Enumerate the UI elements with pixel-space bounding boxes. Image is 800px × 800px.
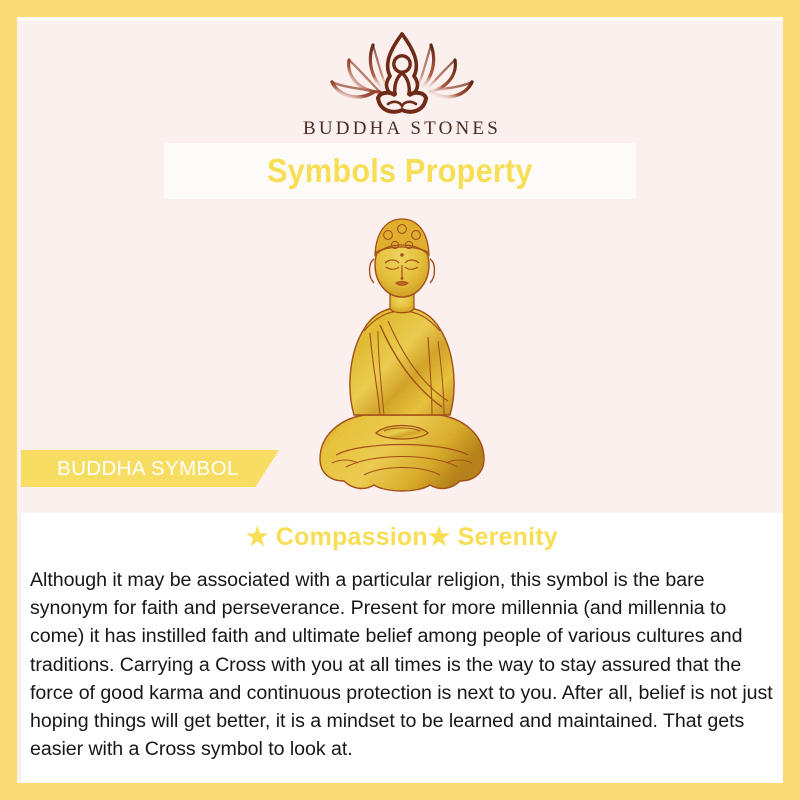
brand-name: BUDDHA STONES bbox=[21, 118, 783, 140]
description-text: Although it may be associated with a par… bbox=[21, 552, 783, 763]
poster-canvas: BUDDHA STONES Symbols Property bbox=[21, 21, 783, 783]
golden-buddha-statue bbox=[302, 201, 502, 501]
frame-band-bottom bbox=[0, 783, 800, 800]
description-panel: ★ Compassion★ Serenity Although it may b… bbox=[21, 513, 783, 783]
frame-band-top bbox=[0, 0, 800, 17]
hero-image bbox=[302, 201, 502, 501]
brand-logo: BUDDHA STONES bbox=[21, 26, 783, 140]
poster-root: BUDDHA STONES Symbols Property bbox=[0, 0, 800, 800]
title-band: Symbols Property bbox=[164, 143, 636, 199]
lotus-meditation-icon bbox=[318, 26, 486, 116]
frame-band-right bbox=[783, 0, 800, 800]
frame-band-left bbox=[0, 0, 17, 800]
category-tag: BUDDHA SYMBOL bbox=[21, 450, 279, 487]
page-title: Symbols Property bbox=[267, 152, 533, 190]
category-tag-label: BUDDHA SYMBOL bbox=[57, 457, 239, 481]
section-subtitle: ★ Compassion★ Serenity bbox=[21, 513, 783, 552]
